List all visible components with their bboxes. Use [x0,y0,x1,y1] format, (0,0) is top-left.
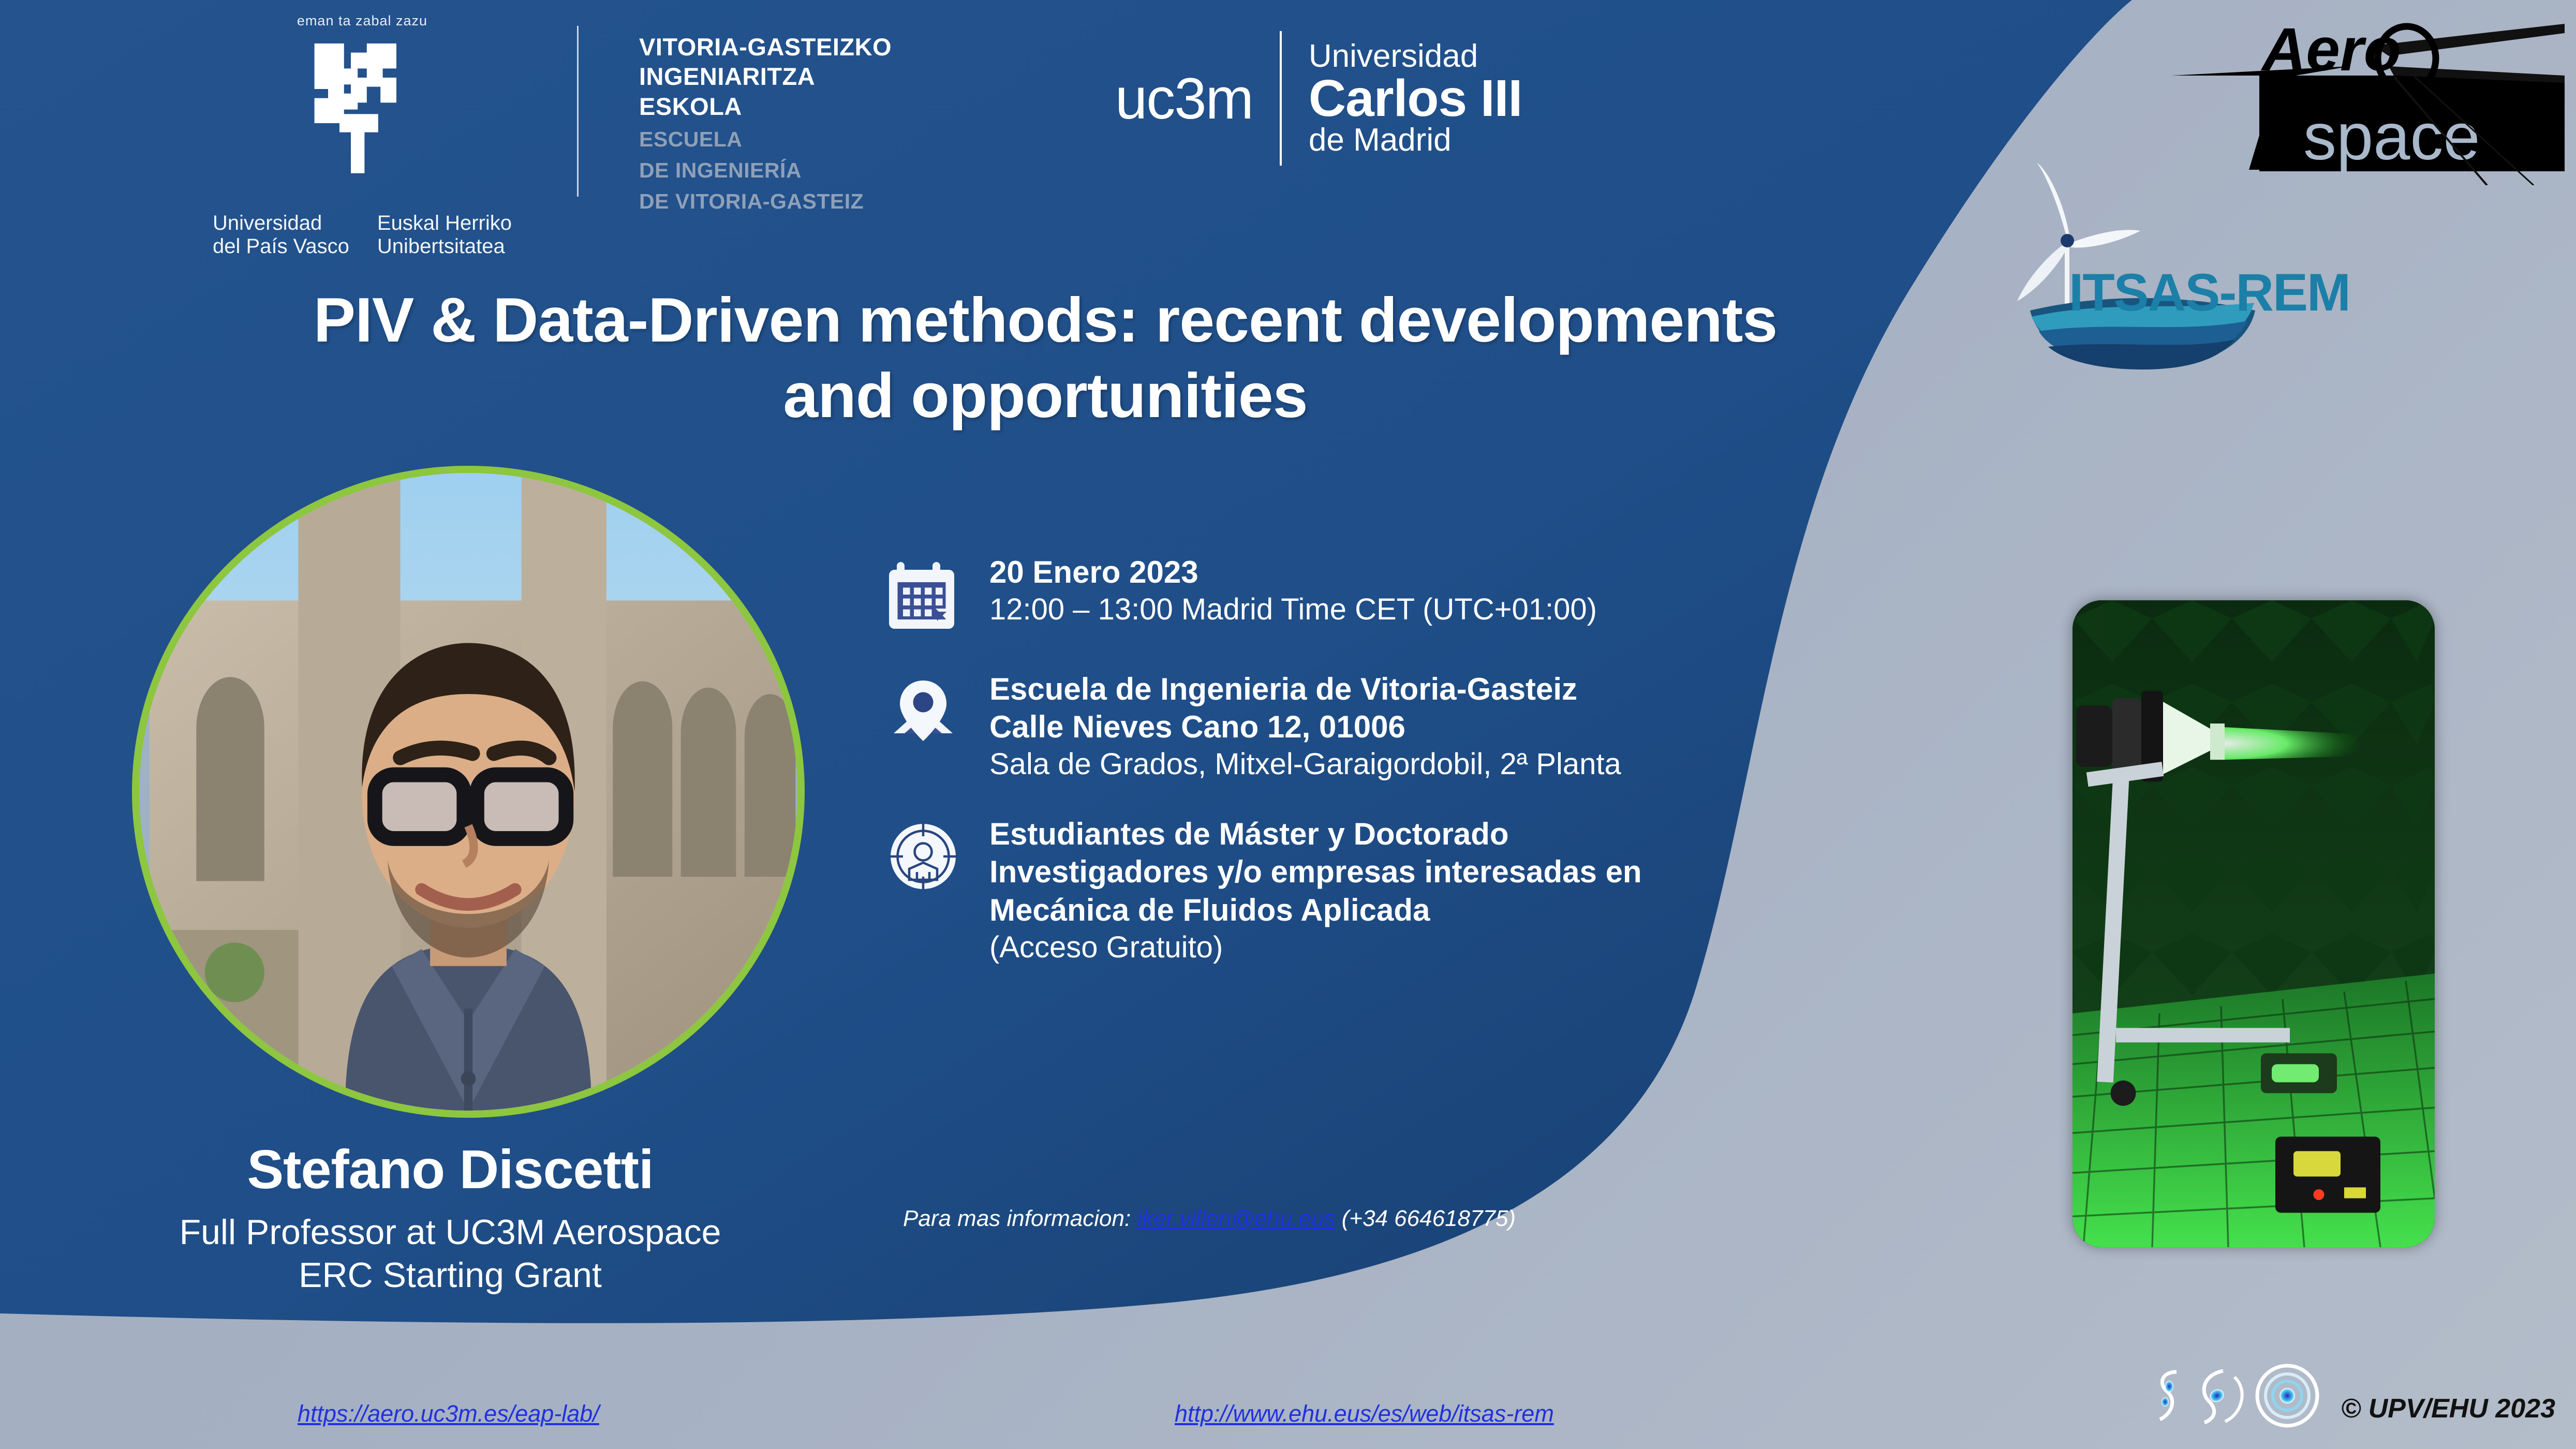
speaker-name: Stefano Discetti [62,1138,838,1201]
logo-divider-1 [577,26,579,197]
aerospace-word-top: Aero [2260,16,2401,84]
avatar [132,466,805,1118]
speaker-role: Full Professor at UC3M Aerospace ERC Sta… [62,1211,838,1297]
itsas-rem-emblem-icon: ITSAS-REM [2012,155,2353,373]
target-audience-icon [880,813,967,900]
lab-photo [2072,600,2435,1247]
seminar-poster: eman ta zabal zazu Universidad del País … [0,0,2576,1449]
vortex-icon-3 [2257,1366,2317,1426]
copyright-text: © UPV/EHU 2023 [2341,1393,2555,1424]
title-line-1: PIV & Data-Driven methods: recent develo… [93,282,1997,358]
speaker-portrait-image [139,473,797,1111]
audience-line-2: Investigadores y/o empresas interesadas … [989,853,1642,891]
logo-uc3m: uc3m Universidad Carlos III de Madrid [1115,31,1522,166]
venue-room: Sala de Grados, Mitxel-Garaigordobil, 2ª… [989,746,1621,783]
page-title: PIV & Data-Driven methods: recent develo… [93,282,1997,434]
calendar-icon [880,551,967,638]
detail-row-audience: Estudiantes de Máster y Doctorado Invest… [880,813,1992,966]
detail-text-audience: Estudiantes de Máster y Doctorado Invest… [989,813,1642,966]
vortex-icon-group [2146,1362,2333,1431]
event-time: 12:00 – 13:00 Madrid Time CET (UTC+01:00… [989,591,1597,628]
audience-line-1: Estudiantes de Máster y Doctorado [989,815,1642,853]
uc3m-fullname: Universidad Carlos III de Madrid [1309,40,1522,156]
vortex-icon-1 [2160,1372,2177,1420]
venue-name: Escuela de Ingenieria de Vitoria-Gasteiz [989,670,1621,708]
detail-row-location: Escuela de Ingenieria de Vitoria-Gasteiz… [880,668,1992,783]
eivg-esp-l3: DE VITORIA-GASTEIZ [639,188,892,214]
audience-access: (Acceso Gratuito) [989,929,1642,966]
speaker-role-line-2: ERC Starting Grant [62,1254,838,1297]
event-date: 20 Enero 2023 [989,553,1597,591]
upv-name-block: Universidad del País Vasco Euskal Herrik… [181,212,543,258]
venue-address: Calle Nieves Cano 12, 01006 [989,708,1621,746]
eivg-eus-l1: VITORIA-GASTEIZKO [639,32,892,62]
upv-name-eu-l2: Unibertsitatea [377,235,512,258]
itsas-rem-label: ITSAS-REM [2069,263,2350,322]
upv-name-es-l1: Universidad [213,212,349,235]
uc3m-shortname: uc3m [1115,65,1253,132]
contact-prefix: Para mas informacion: [903,1206,1137,1231]
logo-upv-ehu: eman ta zabal zazu Universidad del País … [181,13,543,258]
footer-link-uc3m[interactable]: https://aero.uc3m.es/eap-lab/ [298,1400,599,1427]
upv-name-eu-l1: Euskal Herriko [377,212,512,235]
detail-text-location: Escuela de Ingenieria de Vitoria-Gasteiz… [989,668,1621,783]
upv-emblem-icon [292,32,432,203]
location-pin-icon [880,668,967,755]
contact-phone: (+34 664618775) [1335,1206,1516,1231]
eivg-eus-l3: ESKOLA [639,92,892,121]
vortex-logos [2146,1362,2333,1431]
eivg-esp-l2: DE INGENIERÍA [639,157,892,183]
eivg-eus-l2: INGENIARITZA [639,62,892,91]
uc3m-line2: Carlos III [1309,72,1522,124]
uc3m-line3: de Madrid [1309,124,1522,156]
footer-link-itsas[interactable]: http://www.ehu.eus/es/web/itsas-rem [1175,1400,1554,1427]
audience-line-3: Mecánica de Fluidos Aplicada [989,891,1642,929]
eivg-esp-l1: ESCUELA [639,126,892,152]
contact-info: Para mas informacion: iker.villen@ehu.eu… [903,1206,1516,1232]
speaker-role-line-1: Full Professor at UC3M Aerospace [62,1211,838,1254]
uc3m-line1: Universidad [1309,40,1522,72]
detail-text-date: 20 Enero 2023 12:00 – 13:00 Madrid Time … [989,551,1597,628]
upv-name-es-l2: del País Vasco [213,235,349,258]
event-details: 20 Enero 2023 12:00 – 13:00 Madrid Time … [880,551,1992,996]
title-line-2: and opportunities [93,358,1997,433]
contact-email-link[interactable]: iker.villen@ehu.eus [1137,1206,1335,1231]
vortex-icon-2 [2204,1371,2242,1423]
logo-itsas-rem: ITSAS-REM [2012,155,2353,373]
upv-motto: eman ta zabal zazu [181,13,543,29]
piv-laser-setup-image [2072,600,2435,1247]
detail-row-date: 20 Enero 2023 12:00 – 13:00 Madrid Time … [880,551,1992,638]
logo-divider-2 [1280,31,1282,166]
logo-bar: eman ta zabal zazu Universidad del País … [0,0,2122,238]
logo-eivg: VITORIA-GASTEIZKO INGENIARITZA ESKOLA ES… [639,32,892,214]
